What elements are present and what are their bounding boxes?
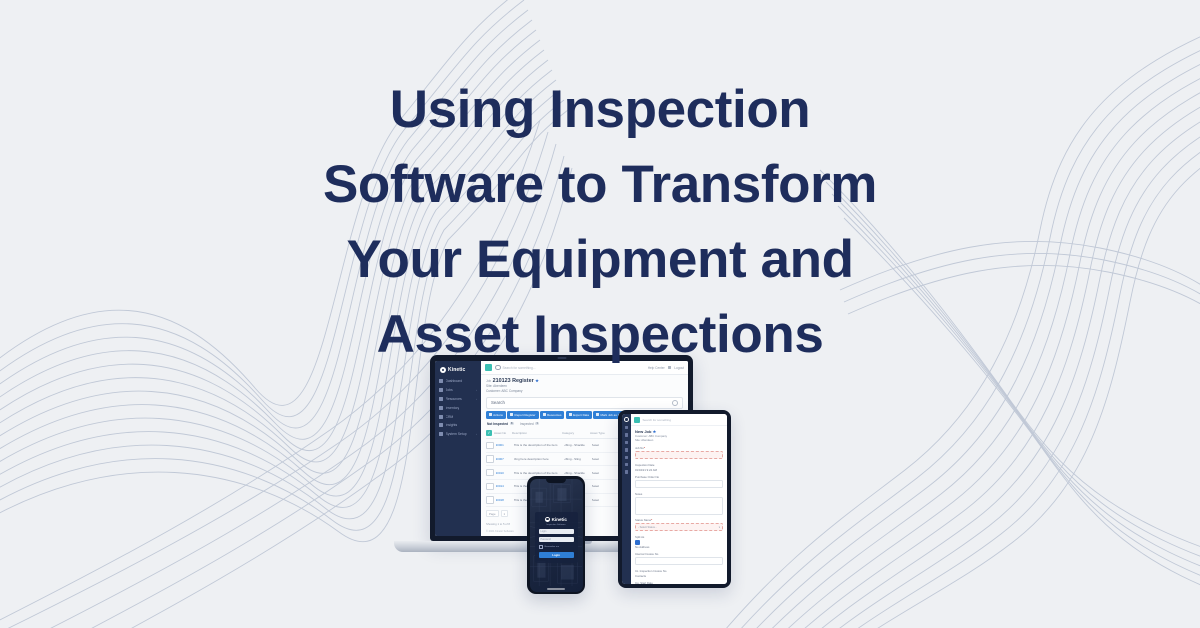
inspection-invoice-no-value: Contacts	[635, 574, 723, 578]
row-checkbox[interactable]	[486, 483, 494, 491]
phone-bezel: Kinetic Inspection Software Login Passwo…	[527, 476, 585, 594]
tablet-main-area: Search for something New Job ★ Customer:…	[631, 414, 727, 584]
gear-icon[interactable]	[625, 470, 628, 473]
field-label-split-as: Split As	[635, 535, 723, 539]
brand-name: Kinetic	[552, 517, 567, 522]
export-data-button[interactable]: Export Data	[566, 411, 592, 419]
sidebar-item-dashboard[interactable]: Dashboard	[435, 377, 481, 386]
sidebar-item-insights[interactable]: Insights	[435, 421, 481, 430]
actions-button[interactable]: Actions	[486, 411, 506, 419]
headline-line-4: Asset Inspections	[120, 297, 1080, 372]
page-title: Using Inspection Software to Transform Y…	[0, 72, 1200, 373]
column-header-category[interactable]: Category	[562, 431, 588, 435]
sidebar-item-resources[interactable]: Resources ›	[435, 395, 481, 404]
password-input[interactable]: Password	[539, 537, 574, 543]
dashboard-icon	[439, 379, 443, 383]
crm-icon[interactable]	[625, 456, 628, 459]
gear-icon	[439, 432, 443, 436]
cell-asset-no: 30007	[496, 457, 512, 461]
cell-category: Lifting - Shackle	[564, 471, 590, 475]
headline-line-1: Using Inspection	[120, 72, 1080, 147]
sidebar-item-label: Jobs	[446, 388, 453, 392]
column-header-description[interactable]: Description	[512, 431, 560, 435]
tablet-search-placeholder[interactable]: Search for something	[643, 418, 672, 422]
tablet-screen: Search for something New Job ★ Customer:…	[622, 414, 727, 584]
field-label-status-name: Status Name*	[635, 518, 723, 522]
sidebar-item-crm[interactable]: CRM	[435, 412, 481, 421]
job-title-prefix: Job	[486, 379, 491, 383]
phone-mockup: Kinetic Inspection Software Login Passwo…	[527, 476, 585, 594]
chevron-right-icon: ›	[476, 388, 477, 392]
sidebar-item-label: Dashboard	[446, 379, 463, 383]
menu-toggle-icon[interactable]	[634, 417, 640, 423]
row-checkbox[interactable]	[486, 469, 494, 477]
chevron-down-icon: ▾	[719, 526, 720, 529]
headline-line-3: Your Equipment and	[120, 222, 1080, 297]
split-as-value: No Address	[635, 545, 723, 549]
resources-button[interactable]: Resources	[540, 411, 564, 419]
remember-me-label: Remember me	[545, 546, 559, 548]
button-label: Report Register	[515, 413, 536, 417]
dashboard-icon[interactable]	[625, 426, 628, 429]
resources-icon	[439, 397, 443, 401]
jobs-icon	[439, 388, 443, 392]
status-name-select[interactable]: - Select Status - ▾	[635, 523, 723, 531]
field-label-inspection-date: Inspection Date	[635, 463, 723, 467]
sidebar-item-label: Resources	[446, 397, 462, 401]
row-checkbox[interactable]	[486, 496, 494, 504]
login-button[interactable]: Login	[539, 552, 574, 558]
cell-asset-no: 30018	[496, 498, 512, 502]
tab-count-badge: 8	[510, 422, 514, 425]
headline-line-2: Software to Transform	[120, 147, 1080, 222]
password-placeholder: Password	[541, 538, 552, 541]
field-label-ins-start-date: Ins. Start Date	[635, 581, 723, 584]
insights-icon	[439, 423, 443, 427]
check-icon	[596, 413, 599, 416]
brand-tagline: Inspection Software	[546, 524, 565, 526]
crm-icon	[439, 415, 443, 419]
field-label-purchase-order: Purchase Order No	[635, 475, 723, 479]
insights-icon[interactable]	[625, 463, 628, 466]
login-card: Kinetic Inspection Software Login Passwo…	[535, 512, 578, 563]
report-register-button[interactable]: Report Register	[507, 411, 538, 419]
field-label-inspection-invoice-no: Int. Inspection Invoice No	[635, 569, 723, 573]
job-customer-label: Customer: ABC Company	[486, 389, 683, 394]
sidebar-item-system-setup[interactable]: System Setup ›	[435, 430, 481, 439]
username-input[interactable]: Login	[539, 529, 574, 535]
column-header-asset-no[interactable]: Asset No	[494, 431, 510, 435]
tablet-bezel: Search for something New Job ★ Customer:…	[618, 410, 731, 588]
cell-category: Lifting - Sling	[564, 457, 590, 461]
tab-label: Inspected	[520, 422, 534, 426]
cell-category: Lifting - Shackle	[564, 443, 590, 447]
button-label: Actions	[493, 413, 503, 417]
search-icon	[672, 400, 678, 406]
phone-notch	[546, 479, 566, 483]
tablet-mockup: Search for something New Job ★ Customer:…	[618, 410, 731, 588]
tab-count-badge: 3	[535, 422, 539, 425]
pager-page-number[interactable]: 1	[501, 510, 509, 517]
chevron-right-icon: ›	[476, 397, 477, 401]
kinetic-logo-icon	[545, 517, 550, 522]
sidebar-item-label: CRM	[446, 415, 454, 419]
cell-asset-no: 30010	[496, 471, 512, 475]
report-icon	[510, 413, 513, 416]
select-all-checkbox[interactable]: ✓	[486, 430, 492, 436]
notes-textarea[interactable]	[635, 497, 723, 515]
form-site-label: Site: Aberdeen	[635, 438, 723, 442]
tab-inspected[interactable]: Inspected 3	[520, 422, 540, 426]
phone-home-indicator	[547, 588, 565, 589]
cell-asset-no: 30014	[496, 484, 512, 488]
sidebar-item-label: Insights	[446, 423, 458, 427]
field-label-job-no: Job No*	[635, 446, 723, 450]
jobs-icon[interactable]	[625, 433, 628, 436]
resources-icon[interactable]	[625, 441, 628, 444]
phone-screen: Kinetic Inspection Software Login Passwo…	[530, 479, 583, 592]
field-label-notes: Notes	[635, 492, 723, 496]
button-label: Resources	[547, 413, 561, 417]
resources-icon	[543, 413, 546, 416]
job-no-input[interactable]	[635, 451, 723, 459]
cell-description: This is the description of the item	[514, 443, 562, 447]
sidebar-item-label: Inventory	[446, 406, 460, 410]
favourite-star-icon[interactable]: ★	[535, 378, 539, 383]
sidebar-item-inventory[interactable]: Inventory	[435, 403, 481, 412]
internal-invoice-no-input[interactable]	[635, 557, 723, 565]
remember-me-checkbox[interactable]	[539, 545, 544, 550]
purchase-order-input[interactable]	[635, 480, 723, 488]
username-placeholder: Login	[541, 530, 547, 533]
button-label: Export Data	[573, 413, 589, 417]
sidebar-item-label: System Setup	[446, 432, 467, 436]
phone-brand-logo: Kinetic	[545, 517, 567, 522]
device-mockup-group: Kinetic Dashboard Jobs › Resources	[0, 348, 1200, 618]
inventory-icon	[439, 406, 443, 410]
remember-me-row[interactable]: Remember me	[539, 545, 560, 550]
pager-label: Page	[486, 510, 499, 517]
sidebar-item-jobs[interactable]: Jobs ›	[435, 386, 481, 395]
chevron-right-icon: ›	[476, 432, 477, 436]
cell-description: Ring here description here	[514, 457, 562, 461]
field-label-internal-invoice-no: Internal Invoice No	[635, 552, 723, 556]
cell-description: This is the description of the item	[514, 471, 562, 475]
job-search-placeholder: Search	[491, 400, 505, 405]
row-checkbox[interactable]	[486, 442, 494, 450]
laptop-page-header: Job 210123 Register ★ Site: Aberdeen Cus…	[481, 375, 688, 395]
job-search-input[interactable]: Search	[486, 397, 683, 409]
tablet-topbar: Search for something	[631, 414, 727, 426]
kinetic-logo-icon	[624, 417, 629, 422]
laptop-sidebar: Kinetic Dashboard Jobs › Resources	[435, 361, 481, 536]
inventory-icon[interactable]	[625, 448, 628, 451]
row-checkbox[interactable]	[486, 455, 494, 463]
status-name-value: - Select Status -	[638, 526, 656, 529]
tablet-sidebar	[622, 414, 631, 584]
actions-icon	[489, 413, 492, 416]
new-job-form: New Job ★ Customer: ABC Company Site: Ab…	[631, 426, 727, 584]
tab-label: Not Inspected	[487, 422, 508, 426]
cell-asset-no: 30001	[496, 443, 512, 447]
tab-not-inspected[interactable]: Not Inspected 8	[487, 422, 514, 426]
export-icon	[569, 413, 572, 416]
inspection-date-value: 01/04/21 9:24 AM	[635, 468, 723, 472]
